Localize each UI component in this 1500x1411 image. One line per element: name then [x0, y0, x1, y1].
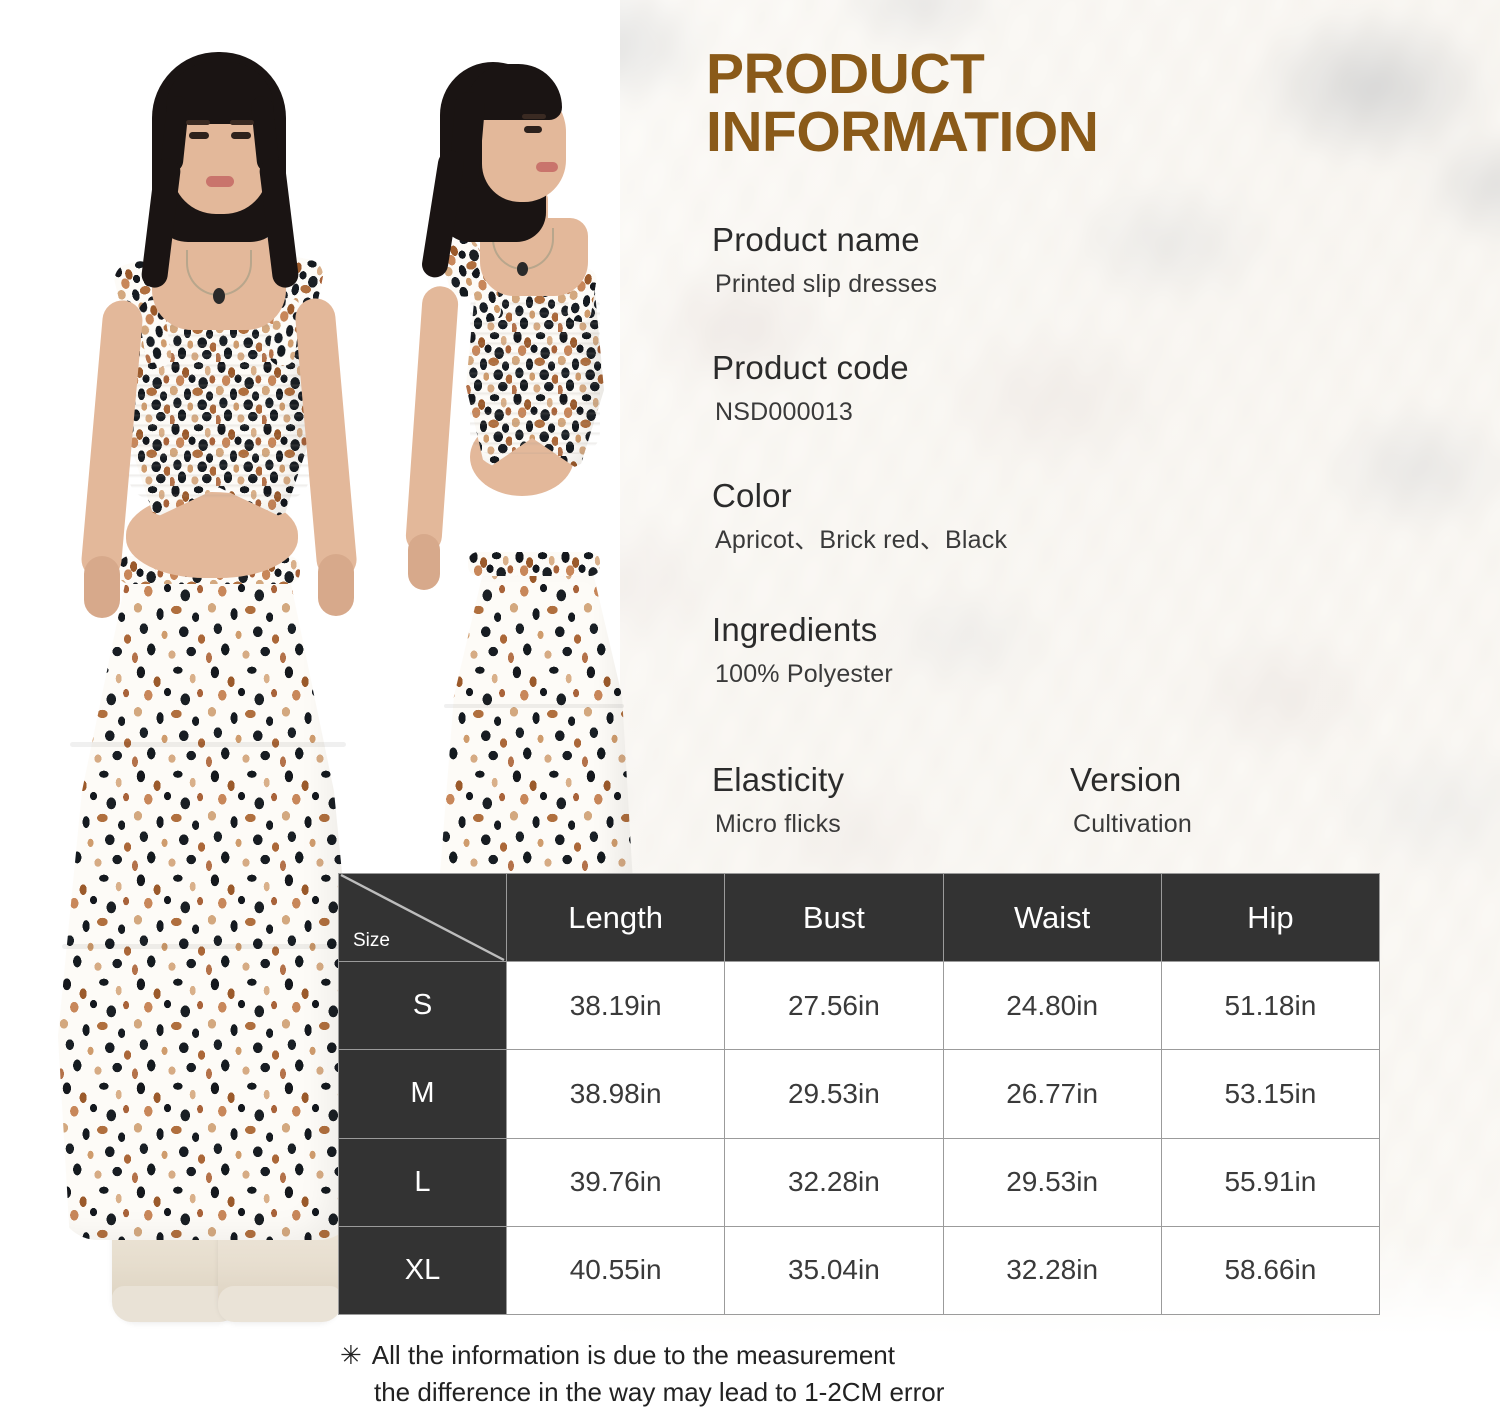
- table-row: XL 40.55in 35.04in 32.28in 58.66in: [339, 1226, 1380, 1314]
- asterisk-icon: ✳: [340, 1340, 362, 1370]
- spec-product-name-label: Product name: [712, 220, 937, 260]
- measurement-disclaimer: ✳All the information is due to the measu…: [340, 1337, 1240, 1411]
- bust-cell-m: 29.53in: [725, 1050, 943, 1138]
- size-chart-col-bust: Bust: [725, 874, 943, 962]
- model-front-skirt-seam-1: [70, 742, 346, 747]
- size-chart-corner-cell: Size: [339, 874, 507, 962]
- table-row: M 38.98in 29.53in 26.77in 53.15in: [339, 1050, 1380, 1138]
- model-front-hand-right: [318, 554, 354, 616]
- bust-cell-s: 27.56in: [725, 962, 943, 1050]
- page-title-line2: INFORMATION: [706, 103, 1326, 161]
- model-side-eye: [524, 126, 542, 133]
- spec-color-label: Color: [712, 476, 1007, 516]
- model-front-eye-left: [189, 132, 209, 139]
- model-front-lips: [206, 176, 234, 187]
- size-chart-header: Size Length Bust Waist Hip: [339, 874, 1380, 962]
- size-chart-col-hip: Hip: [1161, 874, 1379, 962]
- size-cell-m: M: [339, 1050, 507, 1138]
- size-cell-s: S: [339, 962, 507, 1050]
- waist-cell-m: 26.77in: [943, 1050, 1161, 1138]
- spec-version-label: Version: [1070, 760, 1192, 800]
- length-cell-xl: 40.55in: [507, 1226, 725, 1314]
- disclaimer-line-1: All the information is due to the measur…: [372, 1340, 895, 1370]
- waist-cell-xl: 32.28in: [943, 1226, 1161, 1314]
- model-front-brow-right: [230, 120, 254, 125]
- model-front-necklace-pendant: [213, 288, 225, 304]
- table-row: S 38.19in 27.56in 24.80in 51.18in: [339, 962, 1380, 1050]
- spec-color-value: Apricot、Brick red、Black: [715, 525, 1007, 555]
- spec-version-value: Cultivation: [1073, 809, 1192, 839]
- spec-product-name-value: Printed slip dresses: [715, 269, 937, 299]
- model-side-skirt-seam-1: [444, 704, 624, 708]
- model-side-necklace-pendant: [517, 262, 528, 276]
- spec-elasticity-label: Elasticity: [712, 760, 844, 800]
- length-cell-l: 39.76in: [507, 1138, 725, 1226]
- hip-cell-xl: 58.66in: [1161, 1226, 1379, 1314]
- spec-ingredients-value: 100% Polyester: [715, 659, 893, 689]
- bust-cell-xl: 35.04in: [725, 1226, 943, 1314]
- size-cell-l: L: [339, 1138, 507, 1226]
- spec-product-code: Product code NSD000013: [712, 348, 909, 427]
- waist-cell-l: 29.53in: [943, 1138, 1161, 1226]
- waist-cell-s: 24.80in: [943, 962, 1161, 1050]
- model-front-skirt-seam-2: [62, 944, 354, 949]
- model-front-eye-right: [231, 132, 251, 139]
- size-chart-col-waist: Waist: [943, 874, 1161, 962]
- spec-product-code-label: Product code: [712, 348, 909, 388]
- hip-cell-s: 51.18in: [1161, 962, 1379, 1050]
- spec-product-name: Product name Printed slip dresses: [712, 220, 937, 299]
- hip-cell-l: 55.91in: [1161, 1138, 1379, 1226]
- size-chart-table: Size Length Bust Waist Hip S 38.19in 27.…: [338, 873, 1380, 1315]
- length-cell-s: 38.19in: [507, 962, 725, 1050]
- page-title-line1: PRODUCT: [706, 45, 1326, 103]
- model-front-hand-left: [84, 556, 120, 618]
- page-title: PRODUCT INFORMATION: [706, 45, 1326, 161]
- model-front-shoe-right-sole: [218, 1286, 342, 1322]
- model-side-hand: [408, 534, 440, 590]
- model-side-brow: [522, 114, 546, 119]
- size-chart-corner-label: Size: [353, 930, 390, 952]
- hip-cell-m: 53.15in: [1161, 1050, 1379, 1138]
- model-side-lips: [536, 162, 558, 172]
- spec-elasticity-value: Micro flicks: [715, 809, 844, 839]
- size-chart-body: S 38.19in 27.56in 24.80in 51.18in M 38.9…: [339, 962, 1380, 1315]
- model-front-brow-left: [186, 120, 210, 125]
- spec-elasticity: Elasticity Micro flicks: [712, 760, 844, 839]
- model-side-waistband: [468, 552, 600, 576]
- length-cell-m: 38.98in: [507, 1050, 725, 1138]
- bust-cell-l: 32.28in: [725, 1138, 943, 1226]
- size-cell-xl: XL: [339, 1226, 507, 1314]
- size-chart-header-row: Size Length Bust Waist Hip: [339, 874, 1380, 962]
- product-information-page: PRODUCT INFORMATION Product name Printed…: [0, 0, 1500, 1411]
- spec-color: Color Apricot、Brick red、Black: [712, 476, 1007, 555]
- spec-version: Version Cultivation: [1070, 760, 1192, 839]
- size-chart-col-length: Length: [507, 874, 725, 962]
- disclaimer-line-2: the difference in the way may lead to 1-…: [374, 1374, 1240, 1411]
- spec-product-code-value: NSD000013: [715, 397, 909, 427]
- spec-ingredients-label: Ingredients: [712, 610, 893, 650]
- spec-ingredients: Ingredients 100% Polyester: [712, 610, 893, 689]
- table-row: L 39.76in 32.28in 29.53in 55.91in: [339, 1138, 1380, 1226]
